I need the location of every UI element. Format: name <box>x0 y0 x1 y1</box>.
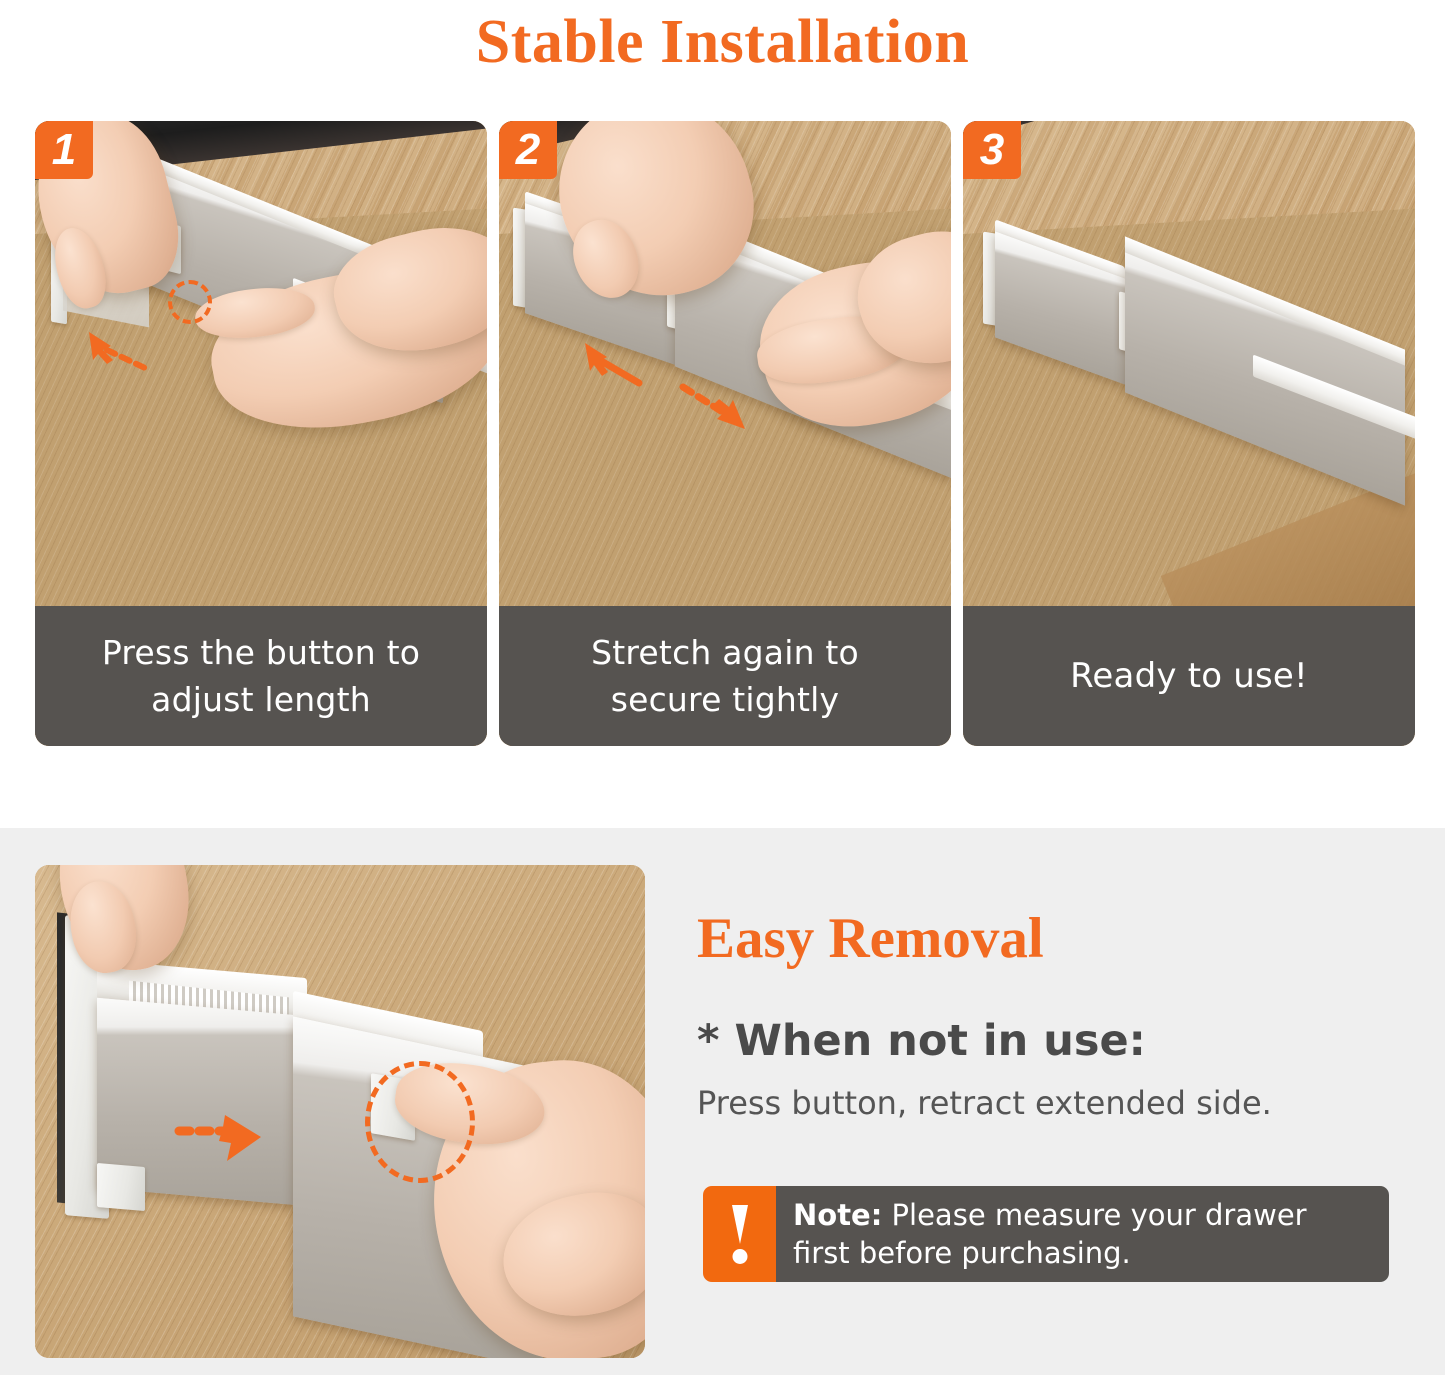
step-caption-3: Ready to use! <box>963 606 1415 746</box>
button-highlight-circle <box>365 1061 475 1183</box>
adjust-arrow-icon <box>83 326 163 376</box>
note-label: Note: <box>793 1198 882 1232</box>
easy-removal-photo <box>35 865 645 1358</box>
step-badge-2: 2 <box>499 121 557 179</box>
caption-line-1: Stretch again to <box>591 629 859 676</box>
step-caption-1: Press the button to adjust length <box>35 606 487 746</box>
note-callout: Note: Please measure your drawer first b… <box>703 1186 1389 1282</box>
note-text: Note: Please measure your drawer first b… <box>776 1186 1389 1282</box>
caption-line-2: secure tightly <box>591 676 859 723</box>
easy-removal-section: Easy Removal * When not in use: Press bu… <box>0 828 1445 1375</box>
step-badge-3: 3 <box>963 121 1021 179</box>
step-panel-3: 3 Ready to use! <box>963 121 1415 746</box>
button-highlight-circle <box>168 280 212 324</box>
easy-removal-heading: Easy Removal <box>697 906 1397 972</box>
stable-installation-section: Stable Installation <box>0 0 1445 828</box>
step-caption-2: Stretch again to secure tightly <box>499 606 951 746</box>
caption-line-1: Press the button to <box>102 629 420 676</box>
step-panel-1: 1 Press the button to adjust length <box>35 121 487 746</box>
easy-removal-text-block: Easy Removal * When not in use: Press bu… <box>697 906 1397 1124</box>
steps-row: 1 Press the button to adjust length <box>35 121 1415 746</box>
note-line-1: Please measure your drawer <box>882 1198 1306 1232</box>
note-line-2: first before purchasing. <box>793 1234 1307 1272</box>
infographic-page: Stable Installation <box>0 0 1445 1375</box>
page-title: Stable Installation <box>0 2 1445 82</box>
when-not-in-use-subheading: * When not in use: <box>697 1014 1397 1068</box>
step-badge-1: 1 <box>35 121 93 179</box>
step-panel-2: 2 Stretch again to secure tightly <box>499 121 951 746</box>
stretch-arrow-right-icon <box>677 381 757 437</box>
stretch-arrow-left-icon <box>581 339 651 389</box>
caption-line-2: adjust length <box>102 676 420 723</box>
retract-arrow-icon <box>173 1113 269 1171</box>
caption-line-1: Ready to use! <box>1070 653 1308 700</box>
exclamation-icon <box>703 1186 776 1282</box>
press-button-body-text: Press button, retract extended side. <box>697 1082 1397 1124</box>
